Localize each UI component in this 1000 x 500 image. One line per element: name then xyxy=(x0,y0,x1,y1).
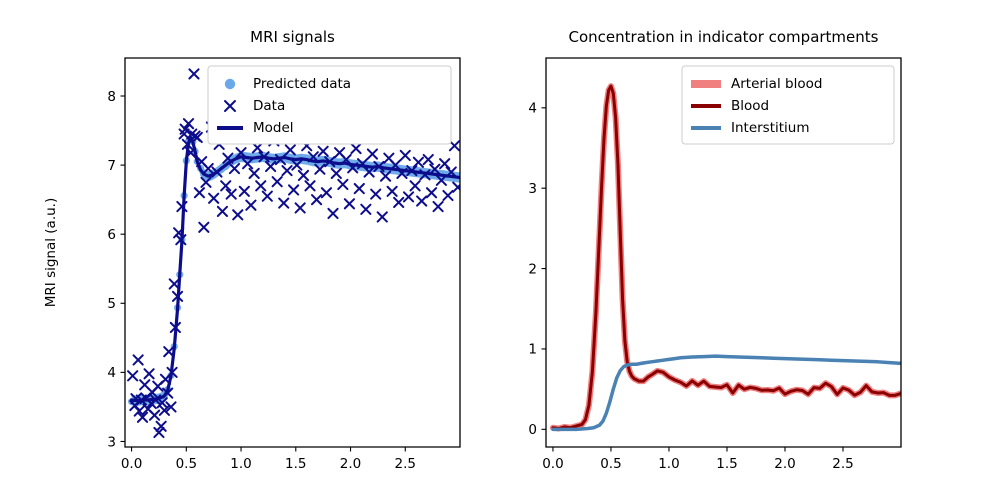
x-tick-label: 2.5 xyxy=(395,456,416,472)
legend-label: Arterial blood xyxy=(731,76,822,92)
data-point-marker xyxy=(230,164,239,173)
x-tick-label: 2.0 xyxy=(340,456,361,472)
data-point-marker xyxy=(134,355,143,364)
data-point-marker xyxy=(424,155,433,164)
data-point-marker xyxy=(144,369,153,378)
data-point-marker xyxy=(322,188,331,197)
data-point-marker xyxy=(332,169,341,178)
y-tick-label: 6 xyxy=(107,227,116,243)
y-tick-label: 4 xyxy=(107,365,116,381)
data-point-marker xyxy=(440,159,449,168)
data-point-marker xyxy=(312,195,321,204)
panel-title: Concentration in indicator compartments xyxy=(569,28,879,46)
y-tick-label: 7 xyxy=(107,158,116,174)
data-point-marker xyxy=(351,144,360,153)
data-point-marker xyxy=(233,210,242,219)
plot-svg-left: MRI signals0.00.51.01.52.02.5345678MRI s… xyxy=(0,0,500,500)
y-tick-label: 8 xyxy=(107,89,116,105)
data-point-marker xyxy=(355,184,364,193)
data-point-marker xyxy=(361,205,370,214)
data-point-marker xyxy=(246,201,255,210)
y-axis-label: MRI signal (a.u.) xyxy=(43,198,59,307)
data-point-marker xyxy=(263,192,272,201)
data-point-marker xyxy=(328,209,337,218)
data-point-marker xyxy=(209,194,218,203)
x-tick-label: 2.5 xyxy=(832,456,853,472)
data-point-marker xyxy=(199,223,208,232)
data-point-marker xyxy=(401,151,410,160)
data-point-marker xyxy=(450,141,459,150)
data-point-marker xyxy=(150,411,159,420)
data-point-marker xyxy=(279,199,288,208)
data-point-marker xyxy=(394,198,403,207)
data-point-marker xyxy=(273,177,282,186)
x-tick-label: 1.0 xyxy=(658,456,679,472)
data-point-marker xyxy=(218,207,227,216)
data-point-marker xyxy=(164,347,173,356)
x-tick-label: 0.5 xyxy=(600,456,621,472)
y-tick-label: 4 xyxy=(528,101,537,117)
data-point-marker xyxy=(417,196,426,205)
data-point-marker xyxy=(250,169,259,178)
data-point-marker xyxy=(195,188,204,197)
y-tick-label: 0 xyxy=(528,422,537,438)
y-tick-label: 1 xyxy=(528,342,537,358)
data-point-marker xyxy=(443,191,452,200)
panel-concentration: Concentration in indicator compartments0… xyxy=(500,0,1000,500)
data-point-marker xyxy=(299,171,308,180)
x-tick-label: 2.0 xyxy=(774,456,795,472)
legend-label: Data xyxy=(253,98,285,114)
plot-svg-right: Concentration in indicator compartments0… xyxy=(500,0,1000,500)
data-point-marker xyxy=(414,158,423,167)
data-point-marker xyxy=(296,203,305,212)
x-tick-label: 1.5 xyxy=(716,456,737,472)
data-point-marker xyxy=(282,166,291,175)
data-point-marker xyxy=(338,180,347,189)
data-point-marker xyxy=(319,147,328,156)
data-point-marker xyxy=(345,199,354,208)
panel-mri-signals: MRI signals0.00.51.01.52.02.5345678MRI s… xyxy=(0,0,500,500)
x-tick-label: 1.0 xyxy=(230,456,251,472)
panel-title: MRI signals xyxy=(250,28,335,46)
data-point-marker xyxy=(378,212,387,221)
data-point-marker xyxy=(286,145,295,154)
data-point-marker xyxy=(128,371,137,380)
y-tick-label: 3 xyxy=(528,181,537,197)
legend-label: Interstitium xyxy=(731,120,810,136)
y-tick-label: 3 xyxy=(107,434,116,450)
data-point-marker xyxy=(305,181,314,190)
data-point-marker xyxy=(404,192,413,201)
data-point-marker xyxy=(368,149,377,158)
data-point-marker xyxy=(240,187,249,196)
data-point-marker xyxy=(388,187,397,196)
data-point-marker xyxy=(371,190,380,199)
data-point-marker xyxy=(453,183,462,192)
data-point-marker xyxy=(253,143,262,152)
y-tick-label: 2 xyxy=(528,261,537,277)
legend-marker-circle xyxy=(225,79,235,89)
data-point-marker xyxy=(411,181,420,190)
y-tick-label: 5 xyxy=(107,296,116,312)
x-tick-label: 0.5 xyxy=(176,456,197,472)
data-point-marker xyxy=(427,188,436,197)
x-tick-label: 1.5 xyxy=(285,456,306,472)
data-point-marker xyxy=(289,185,298,194)
data-point-marker xyxy=(189,69,198,78)
x-tick-label: 0.0 xyxy=(542,456,563,472)
data-point-marker xyxy=(434,202,443,211)
data-point-marker xyxy=(170,279,179,288)
data-point-marker xyxy=(256,181,265,190)
legend-label: Predicted data xyxy=(253,76,351,92)
matplotlib-figure: MRI signals0.00.51.01.52.02.5345678MRI s… xyxy=(0,0,1000,500)
x-tick-label: 0.0 xyxy=(121,456,142,472)
legend-label: Model xyxy=(253,120,294,136)
legend-label: Blood xyxy=(731,98,769,114)
model-line xyxy=(132,137,460,400)
